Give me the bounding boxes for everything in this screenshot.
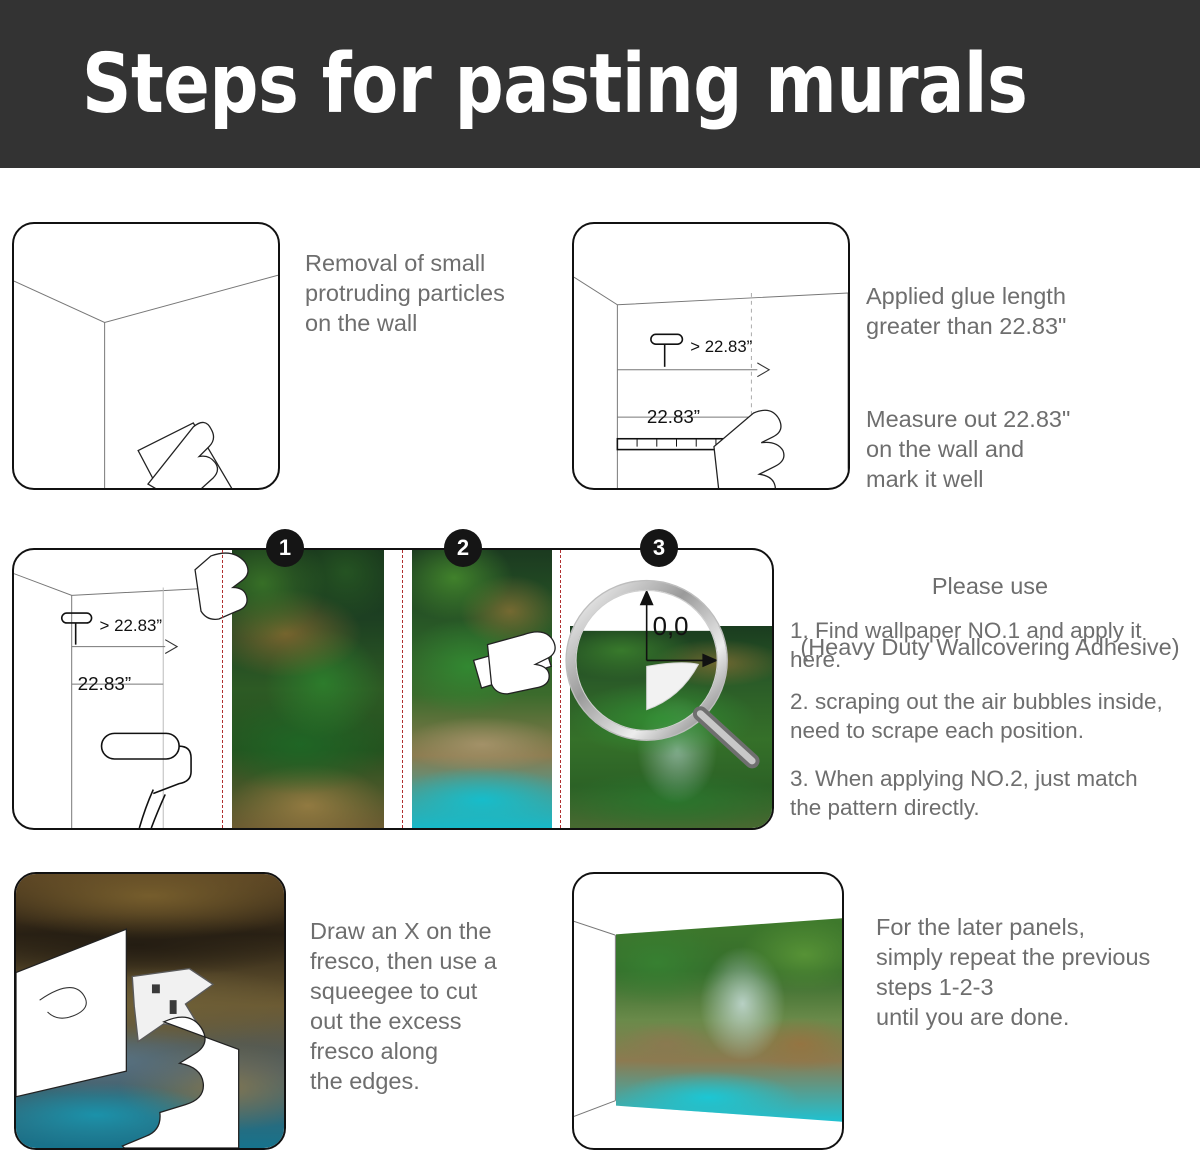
room-perspective-lines (574, 874, 842, 1148)
step-text-measure-mark: Measure out 22.83" on the wall and mark … (866, 404, 1176, 494)
origin-label: 0,0 (653, 613, 689, 641)
scraper-card-and-hand (138, 422, 233, 488)
panel-apply-strips: > 22.83” 22.83” (12, 548, 774, 830)
panel-cut-excess (14, 872, 286, 1150)
panel-finished-mural (572, 872, 844, 1150)
glue-roller-icon (651, 334, 683, 367)
panel-measure-and-glue: > 22.83” 22.83” (572, 222, 850, 490)
alignment-line-1 (222, 550, 223, 828)
mural-instruction-sheet: Steps for pasting murals Removal of smal… (0, 0, 1200, 1152)
label-greater-than: > 22.83” (690, 337, 752, 356)
cut-excess-overlay (16, 874, 284, 1148)
label-exact-measure: 22.83” (647, 406, 700, 427)
step-text-prep-wall: Removal of small protruding particles on… (305, 248, 560, 338)
alignment-line-3 (560, 550, 561, 828)
instruction-1: 1. Find wallpaper NO.1 and apply it here… (790, 617, 1190, 675)
step-text-cut-excess: Draw an X on the fresco, then use a sque… (310, 916, 560, 1096)
instruction-2: 2. scraping out the air bubbles inside, … (790, 688, 1190, 746)
magnifier-overlay: 0,0 (14, 550, 772, 828)
panel-wall-preparation (12, 222, 280, 490)
wall-corner-drawing (14, 224, 278, 488)
instruction-3: 3. When applying NO.2, just match the pa… (790, 765, 1190, 823)
alignment-line-2 (402, 550, 403, 828)
page-title: Steps for pasting murals (82, 37, 1027, 132)
badge-step-1: 1 (266, 529, 304, 567)
step-text-repeat-panels: For the later panels, simply repeat the … (876, 912, 1200, 1032)
adhesive-line-1: Please use (790, 571, 1190, 602)
page-header: Steps for pasting murals (0, 0, 1200, 168)
hand-holding-tape (714, 410, 784, 488)
wall-measure-drawing: > 22.83” 22.83” (574, 224, 848, 488)
step-text-glue-length: Applied glue length greater than 22.83" (866, 281, 1176, 341)
badge-step-2: 2 (444, 529, 482, 567)
badge-step-3: 3 (640, 529, 678, 567)
magnifier-handle (700, 714, 752, 761)
